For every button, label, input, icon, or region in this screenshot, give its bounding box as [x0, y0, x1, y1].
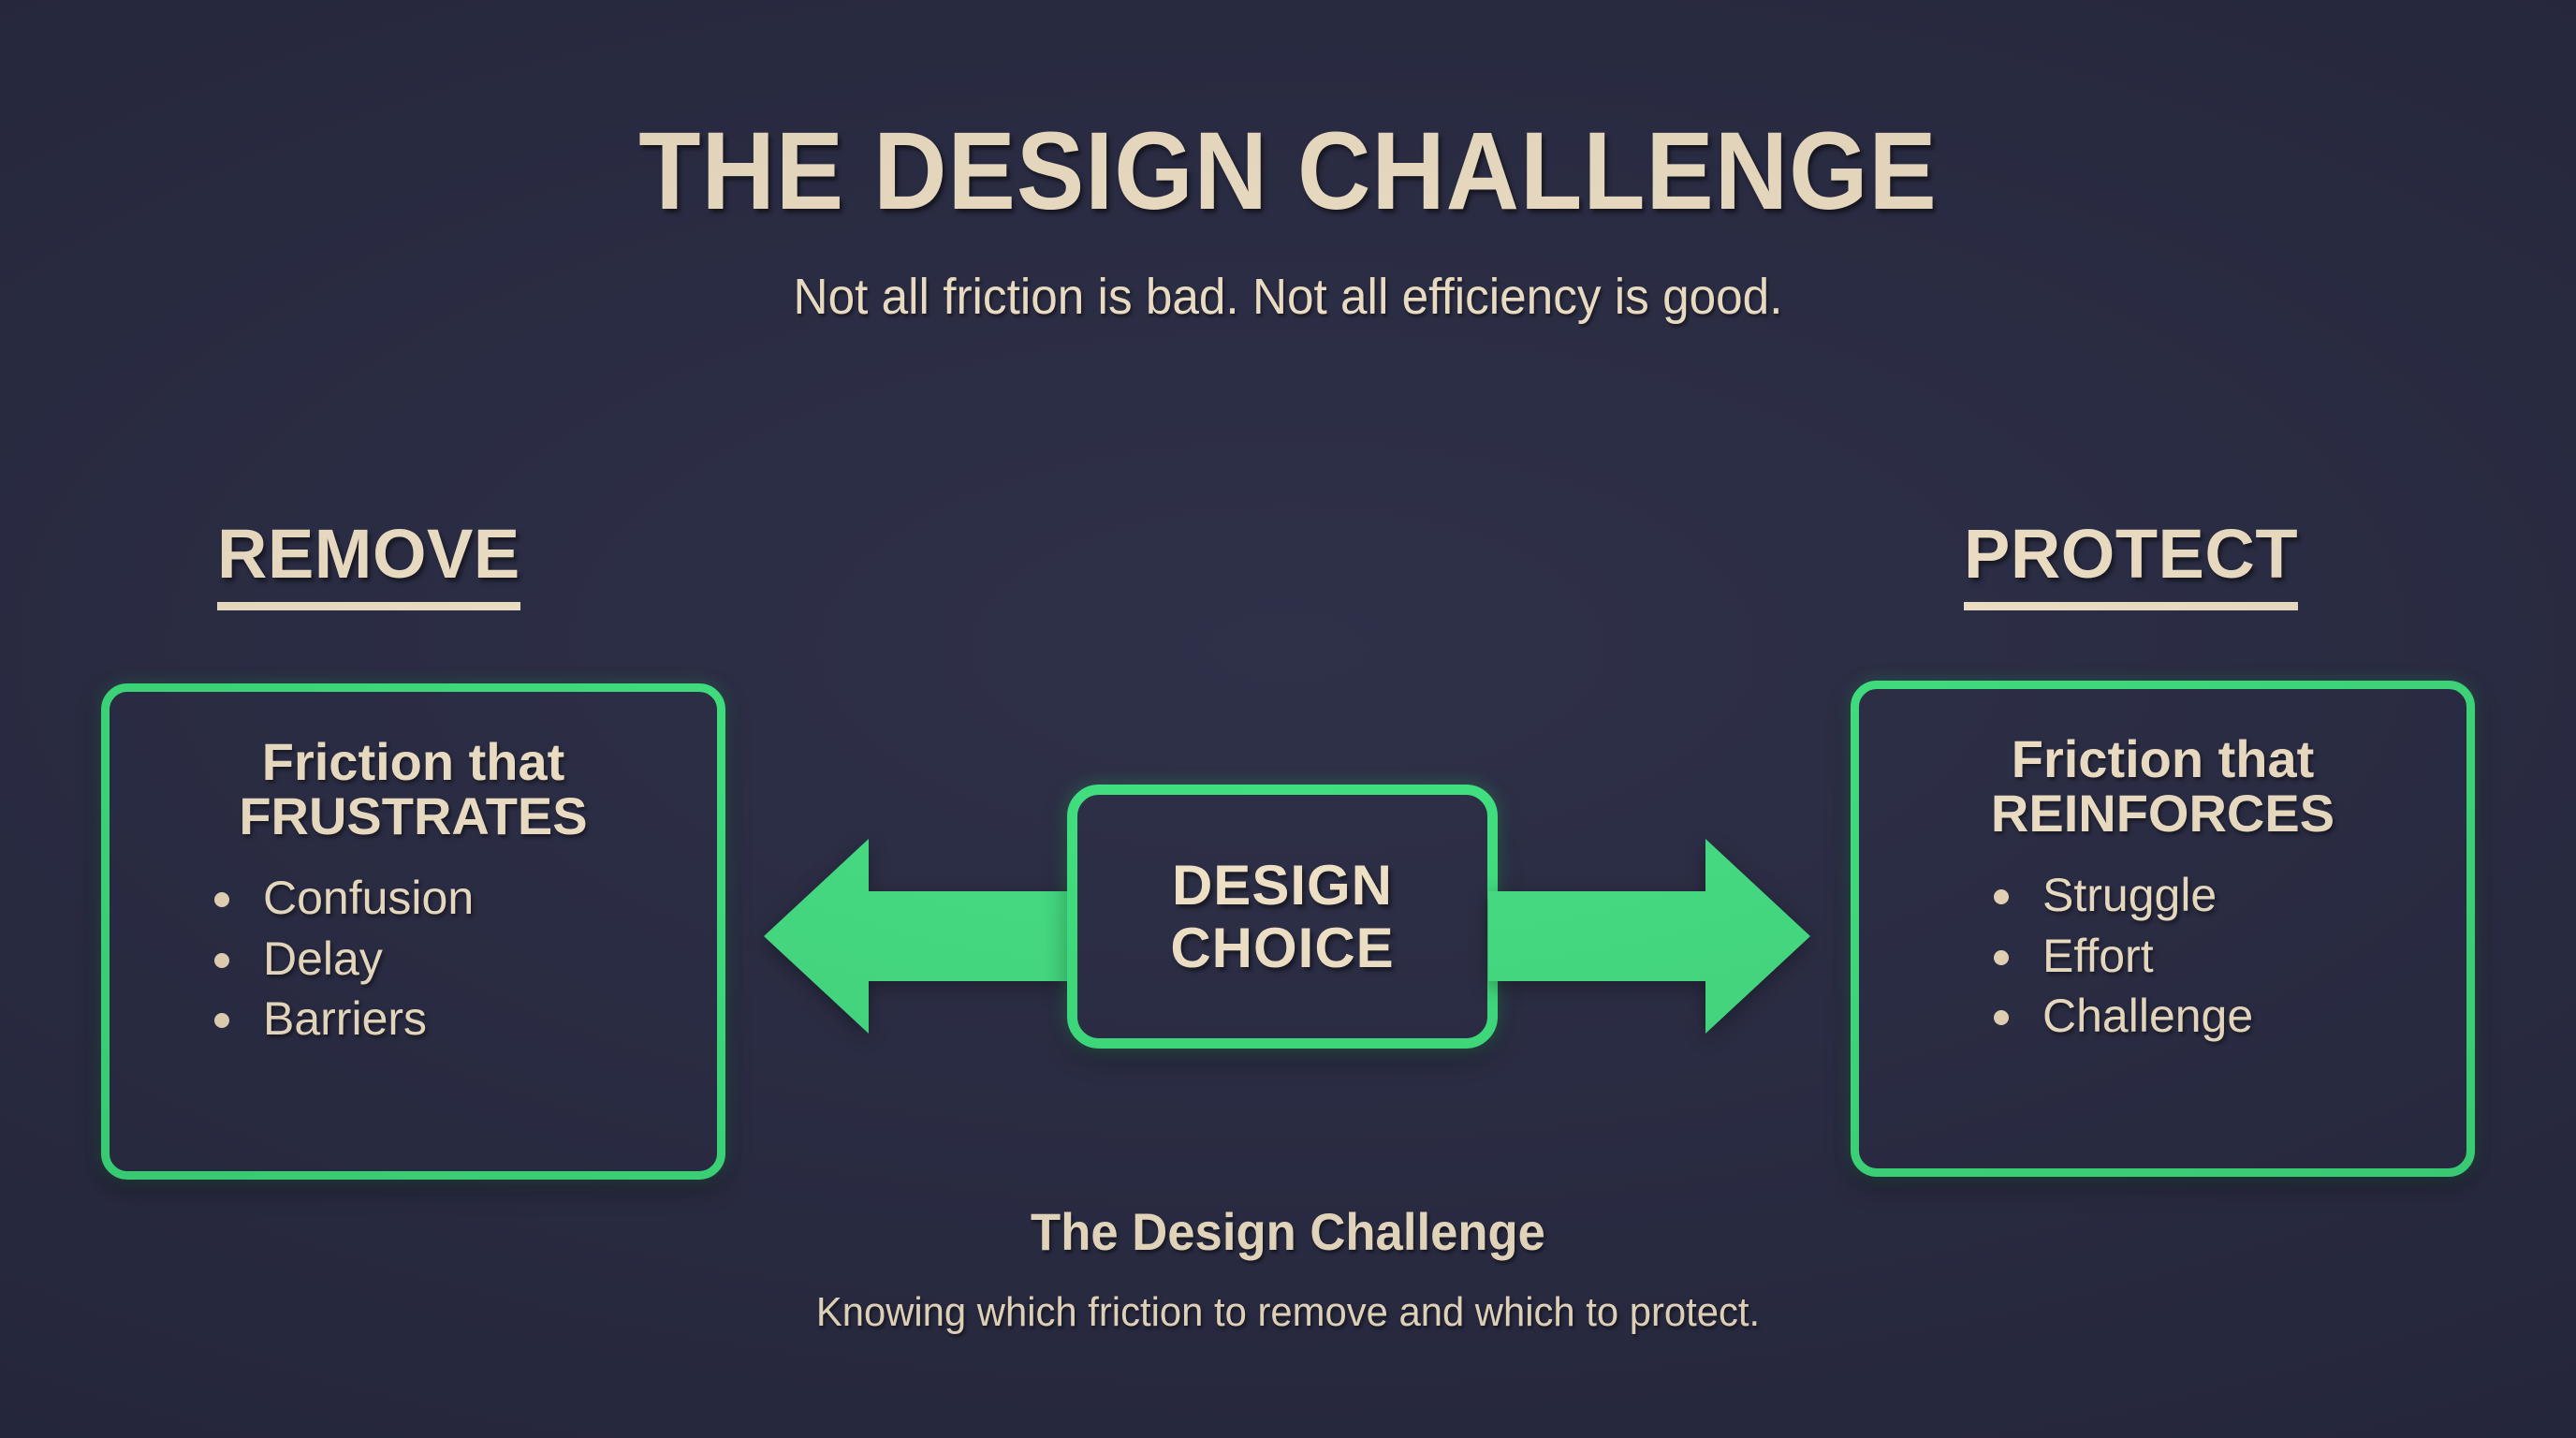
- page-title: THE DESIGN CHALLENGE: [103, 116, 2473, 227]
- list-item: Struggle: [1994, 865, 2466, 926]
- section-header-remove: REMOVE: [217, 520, 520, 610]
- arrow-right-icon: [1488, 839, 1810, 1034]
- center-node-label-line2: CHOICE: [1170, 917, 1394, 979]
- list-item-label: Delay: [263, 932, 383, 985]
- panel-protect-title: Friction that REINFORCES: [1859, 689, 2466, 841]
- list-item: Confusion: [214, 868, 717, 929]
- bullet-dot-icon: [214, 953, 229, 968]
- page-subtitle: Not all friction is bad. Not all efficie…: [65, 271, 2511, 322]
- footer-caption: Knowing which friction to remove and whi…: [65, 1292, 2511, 1333]
- bullet-dot-icon: [214, 892, 229, 907]
- panel-remove-title-line2: FRUSTRATES: [136, 789, 691, 844]
- center-node-design-choice: DESIGN CHOICE: [1067, 785, 1498, 1049]
- center-node-label: DESIGN CHOICE: [1170, 854, 1394, 979]
- panel-protect-bullet-list: Struggle Effort Challenge: [1859, 865, 2466, 1047]
- bullet-dot-icon: [1994, 889, 2009, 904]
- footer-title: The Design Challenge: [78, 1206, 2499, 1258]
- panel-remove-title: Friction that FRUSTRATES: [110, 692, 717, 844]
- list-item-label: Challenge: [2042, 990, 2253, 1042]
- list-item: Effort: [1994, 926, 2466, 987]
- panel-protect-title-line1: Friction that: [2012, 729, 2315, 788]
- panel-remove: Friction that FRUSTRATES Confusion Delay…: [101, 683, 725, 1180]
- bullet-dot-icon: [1994, 1010, 2009, 1025]
- panel-protect-title-line2: REINFORCES: [1885, 786, 2440, 841]
- center-node-label-line1: DESIGN: [1172, 854, 1393, 917]
- list-item: Barriers: [214, 989, 717, 1049]
- list-item-label: Barriers: [263, 992, 427, 1045]
- bullet-dot-icon: [214, 1013, 229, 1028]
- panel-remove-title-line1: Friction that: [262, 732, 565, 791]
- infographic-canvas: THE DESIGN CHALLENGE Not all friction is…: [0, 0, 2576, 1438]
- bullet-dot-icon: [1994, 950, 2009, 965]
- list-item: Delay: [214, 929, 717, 990]
- arrow-left-icon: [764, 839, 1078, 1034]
- list-item-label: Confusion: [263, 872, 474, 924]
- section-header-protect: PROTECT: [1964, 520, 2298, 610]
- list-item: Challenge: [1994, 986, 2466, 1047]
- list-item-label: Effort: [2042, 930, 2154, 982]
- panel-remove-bullet-list: Confusion Delay Barriers: [110, 868, 717, 1049]
- list-item-label: Struggle: [2042, 869, 2217, 921]
- panel-protect: Friction that REINFORCES Struggle Effort…: [1851, 681, 2475, 1177]
